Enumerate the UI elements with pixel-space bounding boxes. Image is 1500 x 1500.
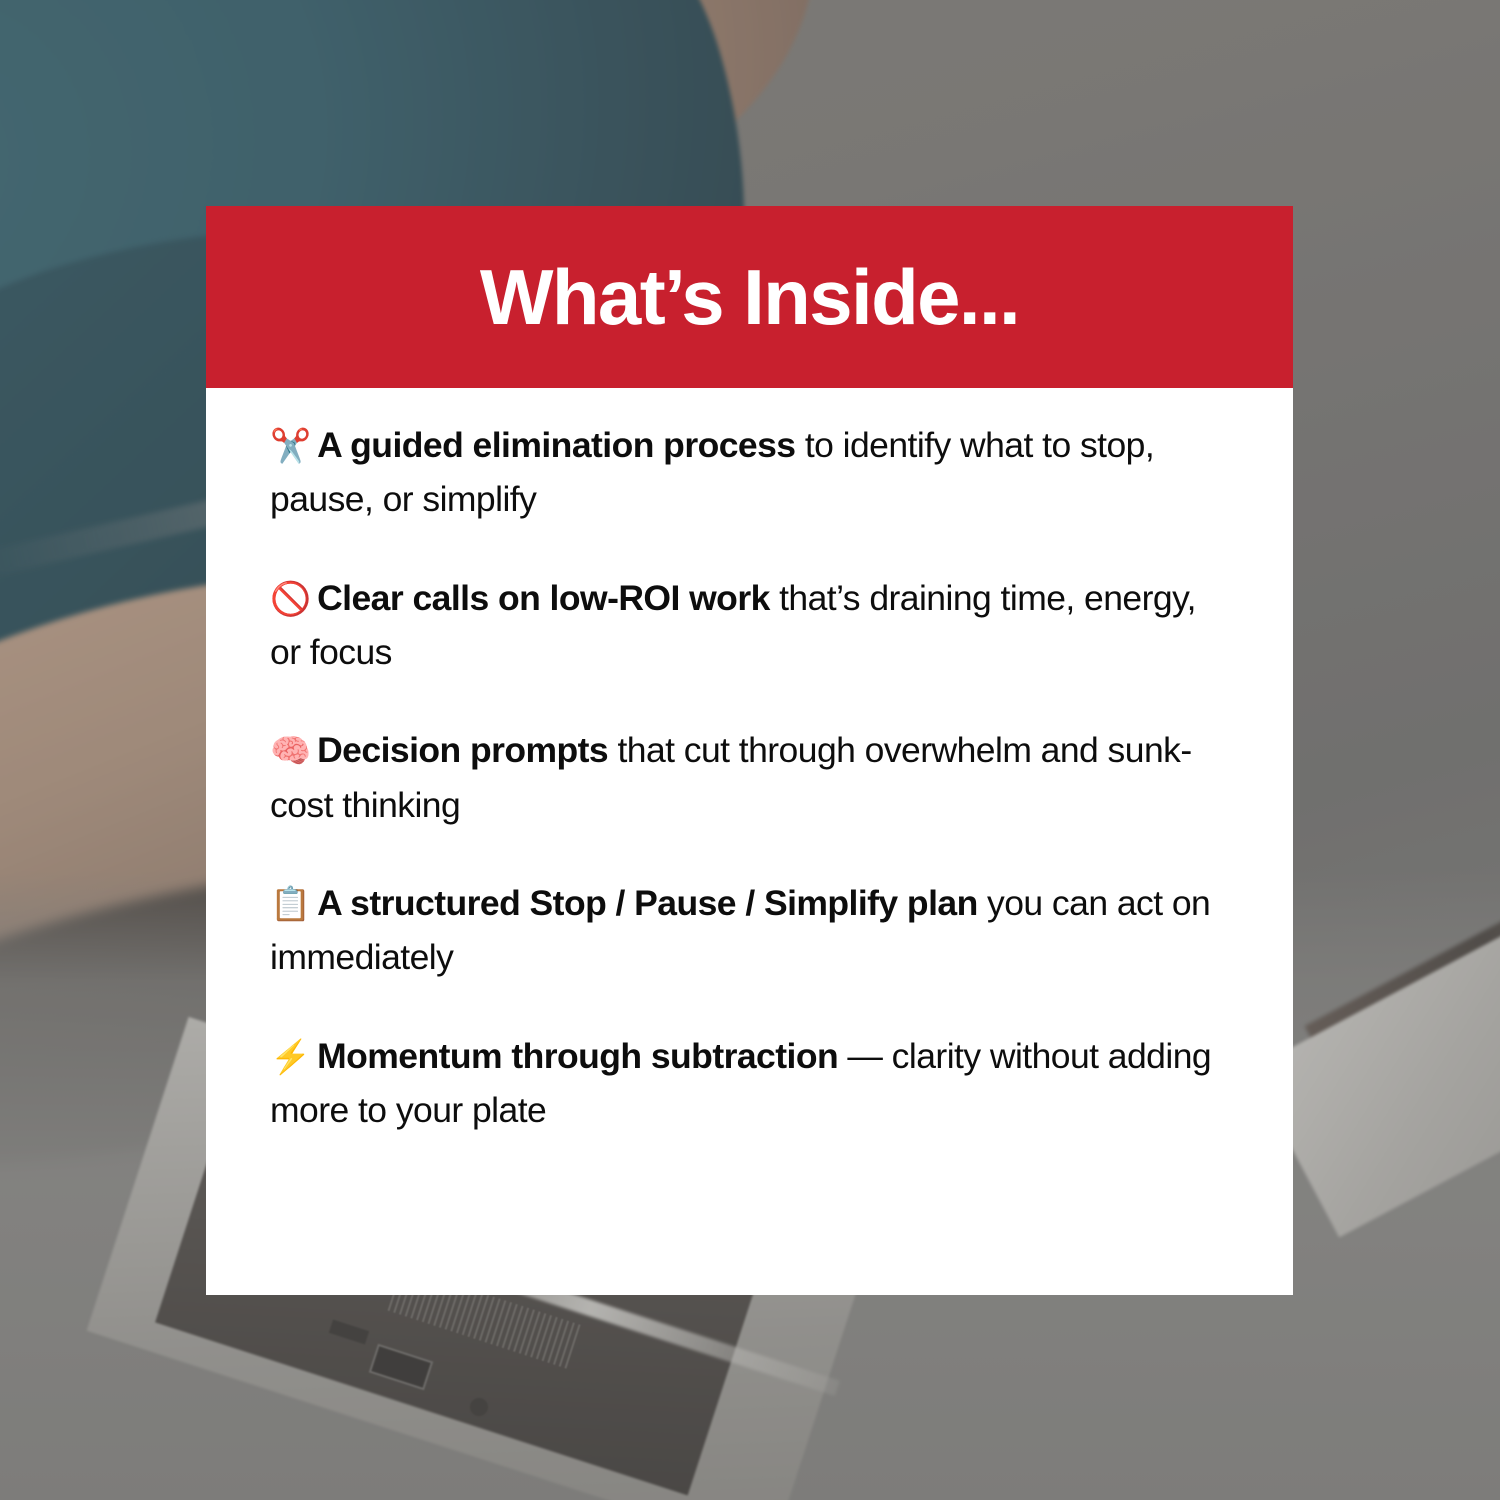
card-header-banner: What’s Inside... (206, 206, 1293, 388)
list-item-lead: A structured Stop / Pause / Simplify pla… (317, 883, 978, 923)
list-item: 🧠Decision prompts that cut through overw… (270, 723, 1229, 832)
list-item: ✂️A guided elimination process to identi… (270, 418, 1229, 527)
list-item: ⚡Momentum through subtraction — clarity … (270, 1029, 1229, 1138)
list-item-lead: Clear calls on low-ROI work (317, 578, 770, 618)
list-item: 📋A structured Stop / Pause / Simplify pl… (270, 876, 1229, 985)
prohibited-emoji: 🚫 (270, 580, 311, 617)
brain-emoji: 🧠 (270, 732, 311, 769)
lightning-bolt-emoji: ⚡ (270, 1038, 311, 1075)
whats-inside-card: What’s Inside... ✂️A guided elimination … (206, 206, 1293, 1295)
list-item-lead: Decision prompts (317, 730, 608, 770)
list-item: 🚫Clear calls on low-ROI work that’s drai… (270, 571, 1229, 680)
page-title: What’s Inside... (480, 258, 1019, 336)
card-body: ✂️A guided elimination process to identi… (206, 388, 1293, 1295)
list-item-lead: Momentum through subtraction (317, 1036, 838, 1076)
clipboard-emoji: 📋 (270, 885, 311, 922)
scissors-emoji: ✂️ (270, 427, 311, 464)
list-item-lead: A guided elimination process (317, 425, 795, 465)
